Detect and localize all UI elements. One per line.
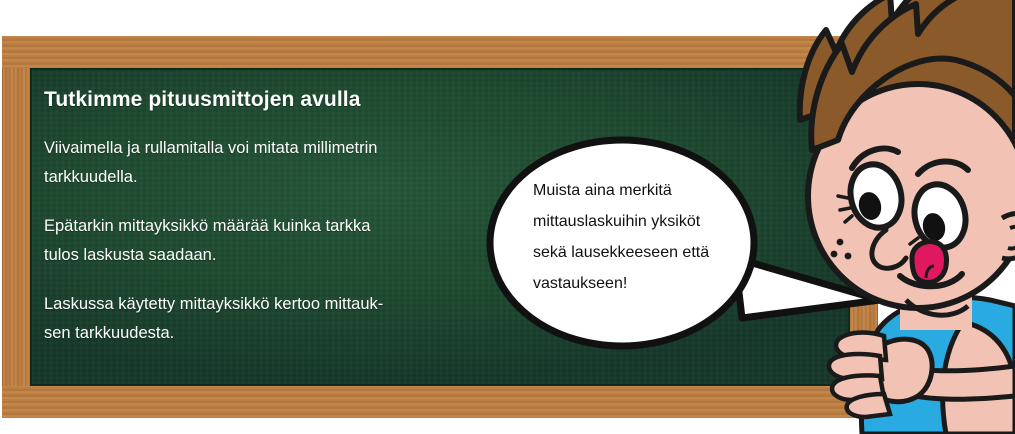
boy-finger-4 [847,394,890,417]
cartoon-boy [0,0,1015,434]
boy-freckle-1 [837,239,844,246]
slide-canvas: Tutkimme pituusmittojen avulla Viivaimel… [0,0,1015,434]
boy-freckle-3 [845,253,852,260]
boy-freckle-2 [831,251,838,258]
boy-ear [1002,214,1015,259]
boy-tongue [912,242,947,283]
